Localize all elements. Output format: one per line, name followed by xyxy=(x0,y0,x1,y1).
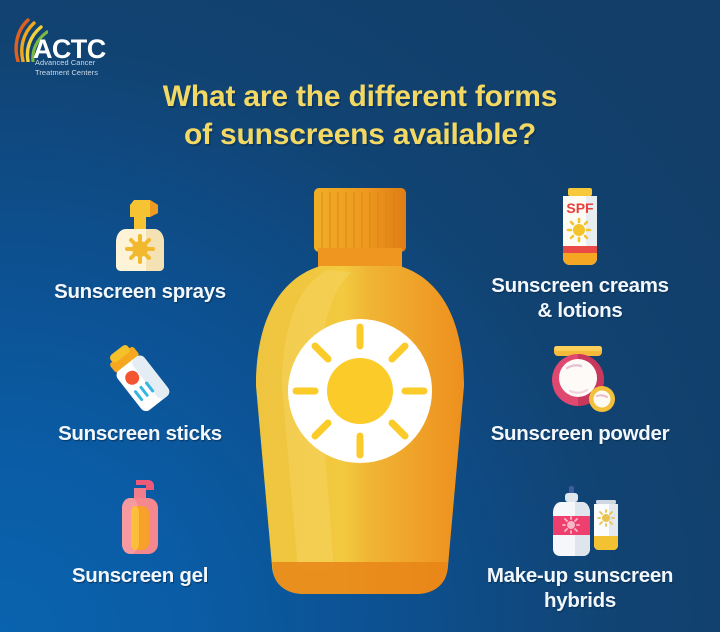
spray-bottle-icon xyxy=(15,188,265,274)
item-label: Sunscreen creams & lotions xyxy=(455,274,705,323)
spf-tube-icon: SPF xyxy=(455,182,705,268)
page-title: What are the different forms of sunscree… xyxy=(0,78,720,154)
powder-compact-icon xyxy=(455,330,705,416)
brand-logo: ACTC Advanced Cancer Treatment Centers xyxy=(12,18,132,74)
makeup-hybrid-icon xyxy=(448,472,712,558)
item-sunscreen-sticks: Sunscreen sticks xyxy=(15,330,265,447)
item-label: Sunscreen gel xyxy=(15,564,265,589)
item-makeup-sunscreen-hybrids: Make-up sunscreen hybrids xyxy=(448,472,712,613)
center-sunscreen-bottle xyxy=(242,186,478,606)
item-sunscreen-powder: Sunscreen powder xyxy=(455,330,705,447)
logo-tagline: Advanced Cancer Treatment Centers xyxy=(35,58,98,78)
infographic-poster: ACTC Advanced Cancer Treatment Centers W… xyxy=(0,0,720,632)
pump-bottle-icon xyxy=(15,472,265,558)
item-sunscreen-gel: Sunscreen gel xyxy=(15,472,265,589)
item-label: Make-up sunscreen hybrids xyxy=(448,564,712,613)
spf-tube-text: SPF xyxy=(566,200,594,216)
item-label: Sunscreen powder xyxy=(455,422,705,447)
item-label: Sunscreen sticks xyxy=(15,422,265,447)
item-sunscreen-sprays: Sunscreen sprays xyxy=(15,188,265,305)
item-sunscreen-creams-lotions: SPF Sunscreen creams & lotions xyxy=(455,182,705,323)
item-label: Sunscreen sprays xyxy=(15,280,265,305)
stick-tube-icon xyxy=(15,330,265,416)
